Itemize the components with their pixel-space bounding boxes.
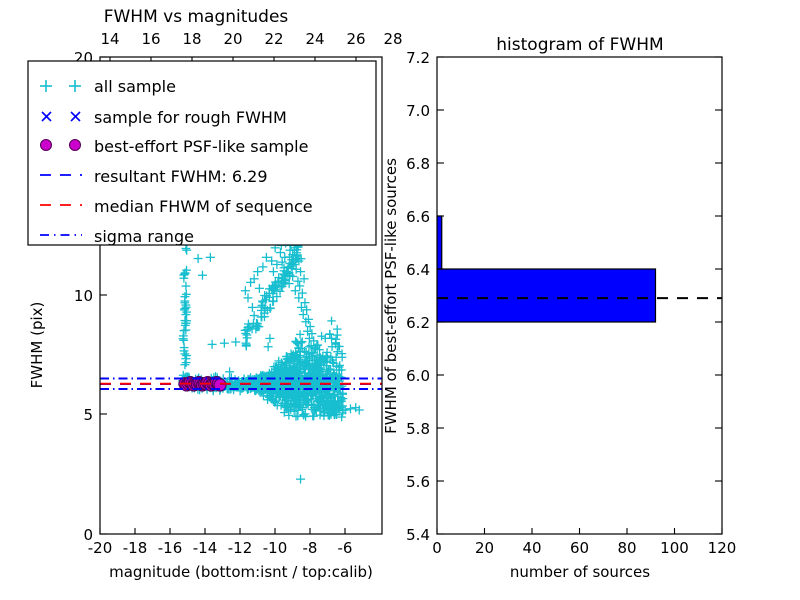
- bottom-tick-label: -14: [193, 539, 218, 557]
- bottom-tick-label: -10: [263, 539, 288, 557]
- bottom-tick-label: -16: [158, 539, 183, 557]
- y-tick-label: 7.2: [406, 49, 430, 67]
- legend: all sample sample for rough FWHM best-ef…: [28, 61, 376, 246]
- legend-label: sample for rough FWHM: [94, 108, 287, 127]
- left-panel-xlabel: magnitude (bottom:isnt / top:calib): [109, 563, 373, 581]
- y-tick-label: 0: [83, 526, 93, 544]
- top-tick-label: 22: [264, 30, 283, 48]
- x-tick-label: 20: [475, 539, 494, 557]
- legend-label: all sample: [94, 77, 176, 96]
- y-tick-label: 5: [83, 406, 93, 424]
- legend-label: sigma range: [94, 227, 194, 246]
- x-tick-label: 40: [522, 539, 541, 557]
- top-tick-label: 20: [223, 30, 242, 48]
- bottom-tick-label: -12: [228, 539, 253, 557]
- bottom-tick-label: -18: [123, 539, 148, 557]
- right-panel-xlabel: number of sources: [510, 563, 650, 581]
- top-tick-label: 24: [305, 30, 324, 48]
- top-tick-label: 26: [346, 30, 365, 48]
- legend-label: median FHWM of sequence: [94, 197, 313, 216]
- bottom-tick-label: -6: [338, 539, 353, 557]
- y-tick-label: 10: [74, 287, 93, 305]
- top-tick-label: 28: [383, 30, 402, 48]
- y-tick-label: 6.0: [406, 367, 430, 385]
- y-tick-label: 7.0: [406, 102, 430, 120]
- x-tick-label: 60: [570, 539, 589, 557]
- figure-canvas: FWHM vs magnitudes 14 16 18 20 22 24 26 …: [0, 0, 800, 600]
- y-tick-label: 6.4: [406, 261, 430, 279]
- y-tick-label: 6.6: [406, 208, 430, 226]
- y-tick-label: 6.8: [406, 155, 430, 173]
- left-panel-ylabel: FWHM (pix): [28, 302, 46, 389]
- x-tick-label: 120: [708, 539, 737, 557]
- legend-label: best-effort PSF-like sample: [94, 137, 308, 156]
- legend-label: resultant FWHM: 6.29: [94, 167, 268, 186]
- y-tick-label: 5.8: [406, 420, 430, 438]
- x-tick-label: 80: [617, 539, 636, 557]
- left-panel-title: FWHM vs magnitudes: [104, 7, 289, 27]
- right-panel-ylabel: FWHM of best-effort PSF-like sources: [382, 158, 400, 434]
- y-tick-label: 6.2: [406, 314, 430, 332]
- top-tick-label: 14: [100, 30, 119, 48]
- x-tick-label: 0: [432, 539, 442, 557]
- top-tick-label: 18: [182, 30, 201, 48]
- bottom-tick-label: -8: [303, 539, 318, 557]
- top-tick-label: 16: [141, 30, 160, 48]
- y-tick-label: 5.4: [406, 526, 430, 544]
- right-panel-title: histogram of FWHM: [496, 35, 663, 55]
- y-tick-label: 5.6: [406, 473, 430, 491]
- matplotlib-figure: FWHM vs magnitudes 14 16 18 20 22 24 26 …: [0, 0, 800, 600]
- x-tick-label: 100: [660, 539, 689, 557]
